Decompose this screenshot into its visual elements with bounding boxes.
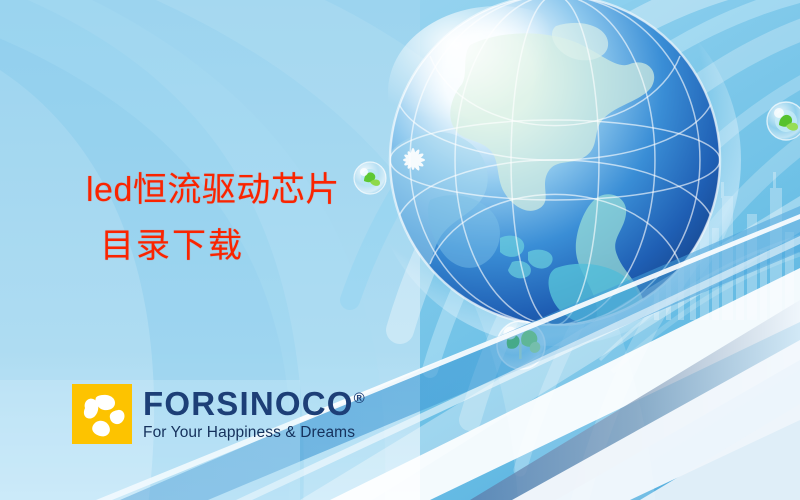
eco-bubble-right bbox=[767, 102, 800, 140]
headline-text: led恒流驱动芯片 目录下载 bbox=[86, 162, 426, 274]
company-logo: FORSINOCO® For Your Happiness & Dreams bbox=[72, 384, 365, 444]
logo-text-block: FORSINOCO® For Your Happiness & Dreams bbox=[143, 387, 365, 442]
logo-tagline: For Your Happiness & Dreams bbox=[143, 424, 365, 442]
headline-line-2: 目录下载 bbox=[86, 218, 426, 274]
logo-wordmark-text: FORSINOCO bbox=[143, 385, 354, 422]
slide-canvas: led恒流驱动芯片 目录下载 FORSINOCO® For Your Happi… bbox=[0, 0, 800, 500]
forsinoco-flower-mark bbox=[72, 384, 132, 444]
headline-line-1: led恒流驱动芯片 bbox=[86, 162, 426, 218]
registered-trademark-icon: ® bbox=[354, 390, 365, 407]
logo-wordmark: FORSINOCO® bbox=[143, 387, 365, 420]
